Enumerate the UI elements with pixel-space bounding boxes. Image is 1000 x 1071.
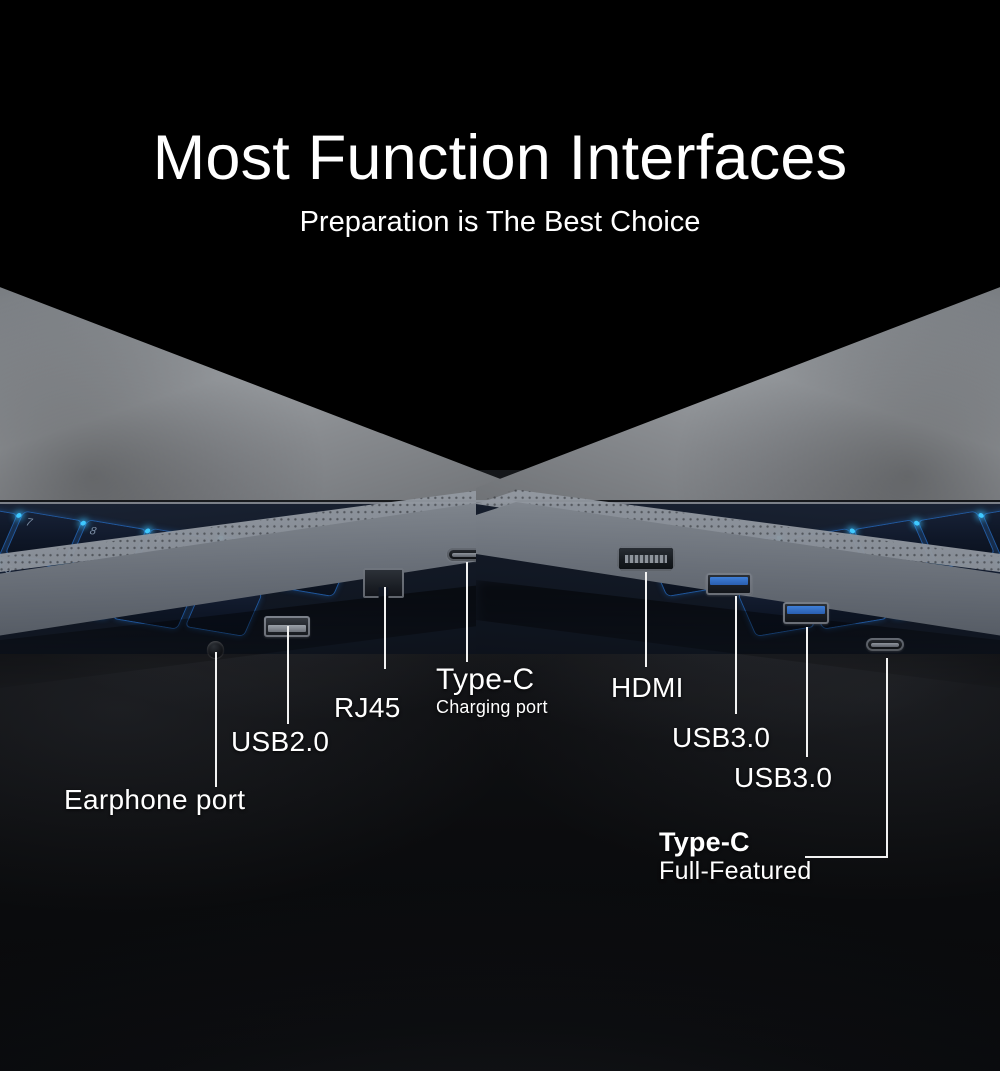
leader-line-hdmi [645,572,647,667]
callout-label: USB2.0 [231,726,329,757]
page-title: Most Function Interfaces [0,127,1000,190]
leader-line-earphone [215,652,217,787]
usb-a-blue-port-icon [706,573,752,595]
leader-line-usb3-b [806,627,808,757]
callout-usb3-a: USB3.0 [672,722,770,753]
usb-a-blue-port-icon [783,602,829,624]
callout-usb3-b: USB3.0 [734,762,832,793]
callout-subtitle: Full-Featured [659,857,812,885]
callout-rj45: RJ45 [334,692,401,723]
callout-subtitle: Charging port [436,697,548,717]
right-laptop [496,250,1000,680]
callout-label: HDMI [611,672,684,703]
left-laptop: Home 7 8 9 4 5 6 PgUp 3 Del [0,250,504,680]
leader-line-typec-full-horizontal [805,856,888,858]
left-laptop-lid [0,250,524,500]
hdmi-port-icon [617,546,675,571]
callout-hdmi: HDMI [611,672,684,703]
callout-typec-charging: Type-C Charging port [436,663,548,717]
callout-typec-full: Type-C Full-Featured [659,827,812,885]
leader-line-typec-full-vertical [886,658,888,858]
product-feature-image: Home 7 8 9 4 5 6 PgUp 3 Del [0,0,1000,1071]
callout-earphone-port: Earphone port [64,784,245,815]
leader-line-typec-charging [466,562,468,662]
callout-usb2: USB2.0 [231,726,329,757]
usb-c-port-icon [866,638,904,651]
page-subtitle: Preparation is The Best Choice [0,208,1000,237]
callout-label: USB3.0 [672,722,770,753]
leader-line-rj45 [384,587,386,669]
callout-label: Type-C [436,663,548,697]
key-label: 7 [24,517,35,529]
callout-label: USB3.0 [734,762,832,793]
leader-line-usb3-a [735,596,737,714]
key-label: 8 [87,525,98,537]
right-laptop-lid [476,250,1000,500]
callout-label: Earphone port [64,784,245,815]
leader-line-usb2 [287,626,289,724]
callout-label: Type-C [659,827,812,857]
callout-label: RJ45 [334,692,401,723]
